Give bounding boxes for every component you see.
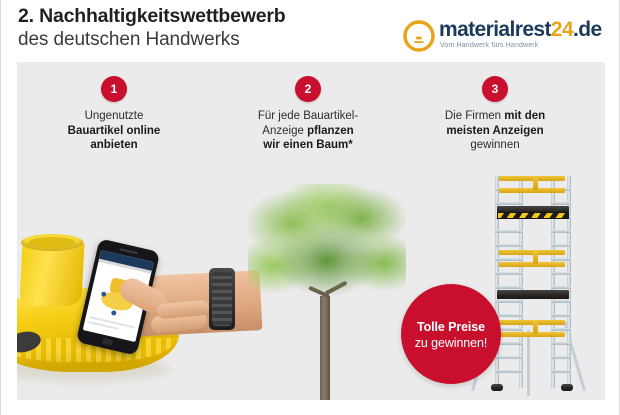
step-number-badge-3: 3 [482,76,508,102]
rung [495,356,523,359]
rung [495,230,523,233]
cement-mixer-phone-illustration [17,228,239,400]
rung [495,286,523,289]
rung [551,314,571,317]
step-text-1: Ungenutzte Bauartikel online anbieten [26,109,202,153]
tree-crown [248,184,406,316]
step-3-line1-bold: mit den [504,110,545,122]
steps-row: 1 Ungenutzte Bauartikel online anbieten … [17,62,605,170]
sleeve-ribbing [212,272,232,326]
step-3-line3: gewinnen [470,139,519,151]
rung [495,202,523,205]
logo-tagline: Vom Handwerk fürs Handwerk [440,42,538,49]
logo-text-dark-2: .de [573,18,602,41]
rung [551,272,571,275]
rung [551,356,571,359]
guardrail-post [533,250,538,264]
step-3-line2: meisten Anzeigen [446,125,543,137]
rung [495,272,523,275]
platform-deck [497,290,569,299]
illustration-row: Tolle Preise zu gewinnen! [17,170,605,400]
rung [551,342,571,345]
rung [495,244,523,247]
step-number-badge-2: 2 [295,76,321,102]
rung [551,370,571,373]
step-number-badge-1: 1 [101,76,127,102]
guardrail [499,176,565,181]
step-2-line3: wir einen Baum* [263,139,352,151]
phone-home-button[interactable] [102,338,113,346]
castor-right [561,384,573,391]
phone-speaker [120,248,138,254]
title-line-2: des deutschen Handwerks [18,28,285,52]
step-2-line1: Für jede Bauartikel- [258,110,358,122]
house-hammer-circle-icon [403,20,435,52]
step-1-line3: anbieten [90,139,137,151]
step-1-line2: Bauartikel online [68,125,161,137]
title-line-1: 2. Nachhaltigkeitswettbewerb [18,4,285,28]
guardrail [499,250,565,255]
poster-page: 2. Nachhaltigkeitswettbewerb des deutsch… [0,0,620,415]
step-2-line2-bold: pflanzen [307,125,354,137]
logo-text-gold: 24 [551,18,573,41]
step-item-2: 2 Für jede Bauartikel- Anzeige pflanzen … [220,76,396,153]
rung [551,328,571,331]
guardrail-post [533,320,538,334]
rung [495,258,523,261]
outrigger-center [527,330,530,396]
step-item-1: 1 Ungenutzte Bauartikel online anbieten [26,76,202,153]
step-1-line1: Ungenutzte [85,110,144,122]
mixer-drum-opening [28,237,76,249]
platform-hazard-stripe [497,212,569,219]
guardrail-post [533,176,538,190]
rung [495,314,523,317]
rung [551,286,571,289]
step-2-line2-regular: Anzeige [262,125,307,137]
rung [495,300,523,303]
step-item-3: 3 Die Firmen mit den meisten Anzeigen ge… [407,76,583,153]
rung [495,370,523,373]
step-text-2: Für jede Bauartikel- Anzeige pflanzen wi… [220,109,396,153]
mixer-shadow [17,356,169,382]
rung [551,300,571,303]
step-text-3: Die Firmen mit den meisten Anzeigen gewi… [407,109,583,153]
rung [551,202,571,205]
content-panel: 1 Ungenutzte Bauartikel online anbieten … [17,62,605,400]
listing-marker-3 [111,310,117,316]
guardrail [499,320,565,325]
prize-badge: Tolle Preise zu gewinnen! [401,284,501,384]
guardrail [499,188,565,193]
prize-badge-line-2: zu gewinnen! [401,336,501,350]
guardrail [499,262,565,267]
page-title: 2. Nachhaltigkeitswettbewerb des deutsch… [18,4,285,52]
prize-badge-line-1: Tolle Preise [401,320,501,334]
logo-text-dark-1: materialrest [439,18,551,41]
rung [551,230,571,233]
rung [551,258,571,261]
castor-left [491,384,503,391]
logo-wordmark: materialrest24.de [439,18,602,42]
header: 2. Nachhaltigkeitswettbewerb des deutsch… [1,0,620,62]
rung [551,244,571,247]
guardrail [499,332,565,337]
step-3-line1-regular: Die Firmen [445,110,504,122]
tree-illustration [242,178,412,400]
brand-logo[interactable]: materialrest24.de Vom Handwerk fürs Hand… [403,19,615,57]
